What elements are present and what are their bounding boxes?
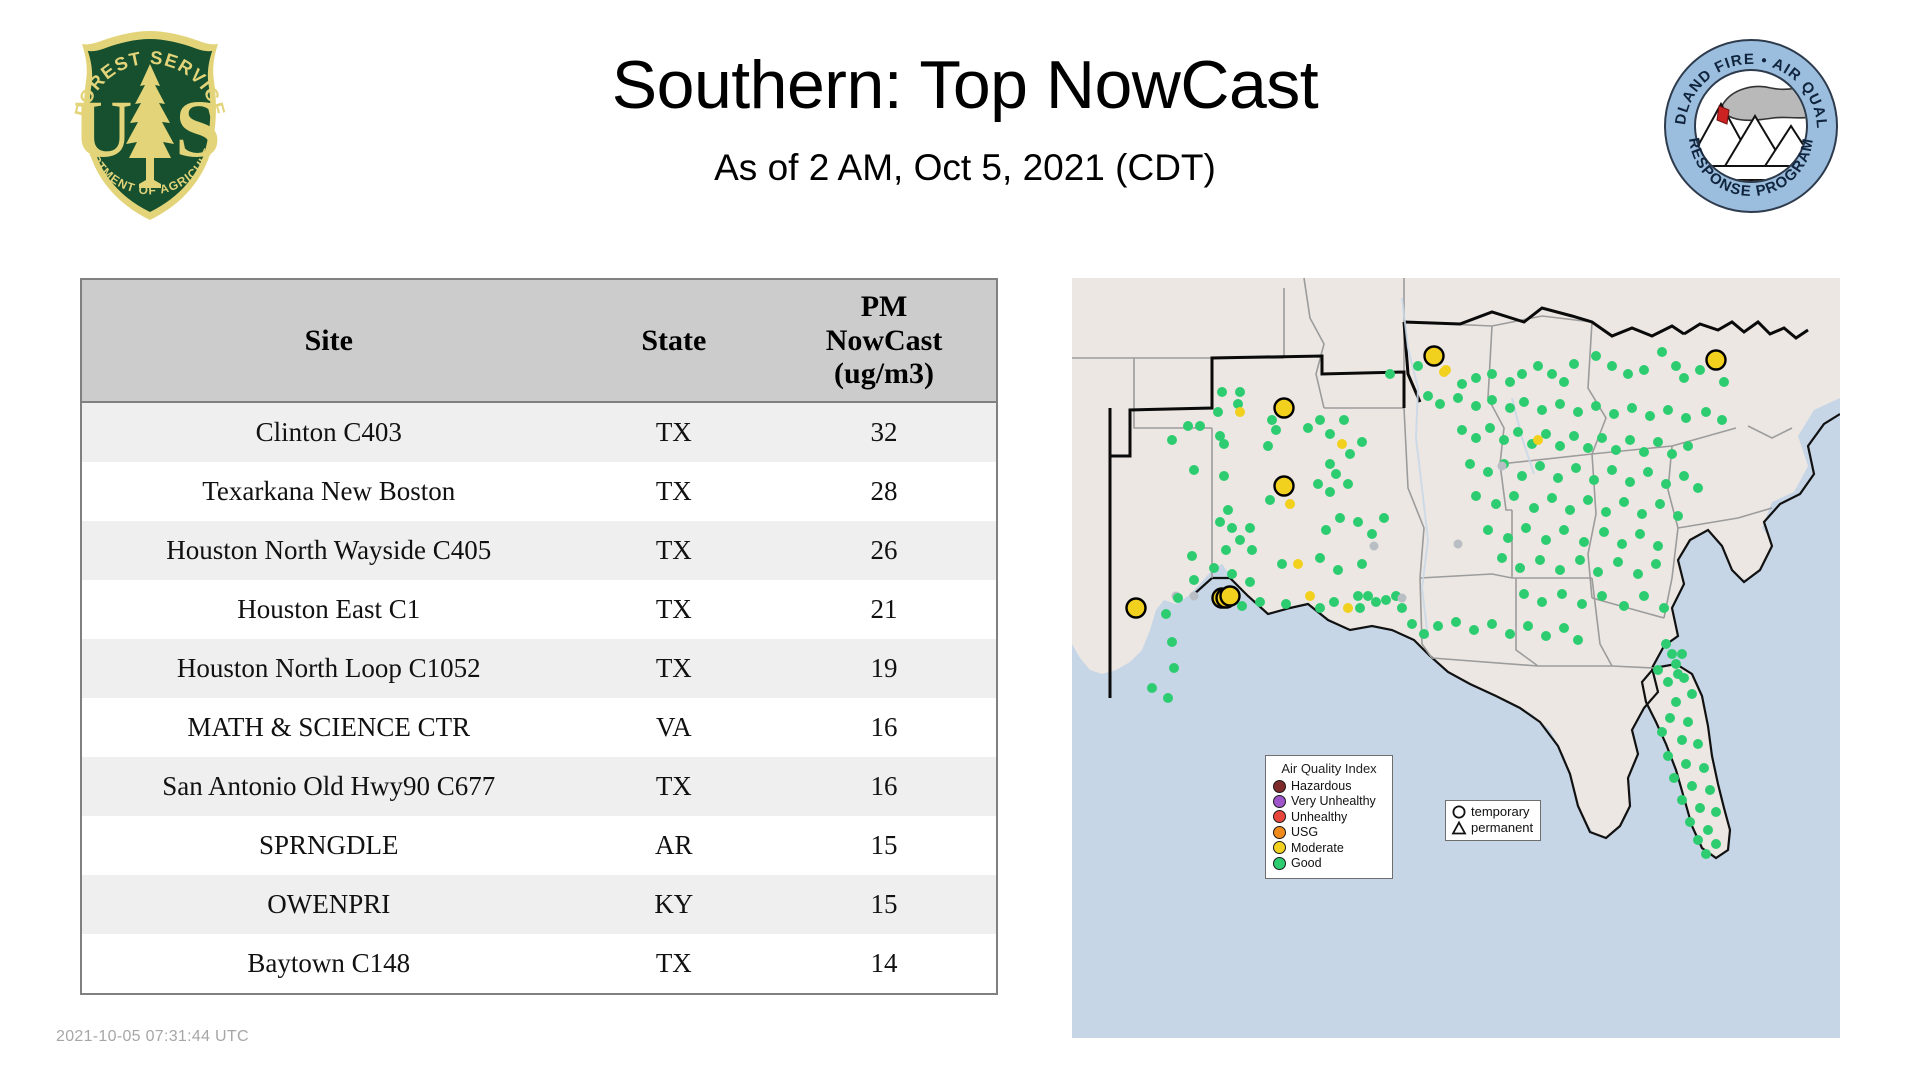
slide-root: U S FOREST SERVICE DEPARTMENT OF AGRICUL… xyxy=(0,0,1920,1080)
monitor-dot-good[interactable] xyxy=(1695,803,1705,813)
aqi-swatch-icon xyxy=(1273,810,1286,823)
monitor-dot-good[interactable] xyxy=(1671,361,1681,371)
cell-site: Houston North Loop C1052 xyxy=(82,639,576,698)
monitor-dot-nodata[interactable] xyxy=(1498,462,1507,471)
monitor-dot-good[interactable] xyxy=(1189,575,1199,585)
monitor-dot-good[interactable] xyxy=(1583,495,1593,505)
monitor-dot-good[interactable] xyxy=(1695,365,1705,375)
site-type-label-temporary: temporary xyxy=(1471,805,1530,820)
monitor-dot-good[interactable] xyxy=(1513,427,1523,437)
monitor-dot-good[interactable] xyxy=(1371,597,1381,607)
monitor-dot-good[interactable] xyxy=(1529,503,1539,513)
monitor-dot-good[interactable] xyxy=(1363,591,1373,601)
monitor-dot-good[interactable] xyxy=(1213,407,1223,417)
monitor-dot-good[interactable] xyxy=(1537,405,1547,415)
monitor-dot-good[interactable] xyxy=(1547,493,1557,503)
monitor-dot-good[interactable] xyxy=(1693,739,1703,749)
aqi-swatch-icon xyxy=(1273,826,1286,839)
pm-header-line1: PM xyxy=(776,290,992,324)
monitor-dot-good[interactable] xyxy=(1321,525,1331,535)
monitor-dot-nodata[interactable] xyxy=(1190,592,1199,601)
monitor-dot-good[interactable] xyxy=(1655,499,1665,509)
monitor-dot-good[interactable] xyxy=(1703,825,1713,835)
title-block: Southern: Top NowCast As of 2 AM, Oct 5,… xyxy=(300,50,1630,189)
monitor-dot-good[interactable] xyxy=(1535,555,1545,565)
cell-state: AR xyxy=(576,816,773,875)
monitor-dot-good[interactable] xyxy=(1569,359,1579,369)
monitor-dot-good[interactable] xyxy=(1619,601,1629,611)
monitor-dot-good[interactable] xyxy=(1487,619,1497,629)
monitor-dot-good[interactable] xyxy=(1227,523,1237,533)
monitor-dot-good[interactable] xyxy=(1671,659,1681,669)
table-row: SPRNGDLEAR15 xyxy=(82,816,996,875)
monitor-dot-nodata[interactable] xyxy=(1398,594,1407,603)
cell-pm: 28 xyxy=(772,462,996,521)
monitor-dot-good[interactable] xyxy=(1183,421,1193,431)
monitor-dot-good[interactable] xyxy=(1457,425,1467,435)
monitor-dot-good[interactable] xyxy=(1503,533,1513,543)
monitor-dot-good[interactable] xyxy=(1247,545,1257,555)
monitor-dot-good[interactable] xyxy=(1635,529,1645,539)
monitor-dot-good[interactable] xyxy=(1453,393,1463,403)
cell-pm: 19 xyxy=(772,639,996,698)
monitor-dot-good[interactable] xyxy=(1541,535,1551,545)
monitor-dot-good[interactable] xyxy=(1609,409,1619,419)
cell-state: VA xyxy=(576,698,773,757)
monitor-dot-good[interactable] xyxy=(1569,431,1579,441)
cell-pm: 15 xyxy=(772,875,996,934)
monitor-dot-good[interactable] xyxy=(1521,523,1531,533)
monitor-dot-good[interactable] xyxy=(1517,471,1527,481)
monitor-dot-good[interactable] xyxy=(1357,559,1367,569)
aqi-legend-label: Good xyxy=(1291,856,1322,870)
monitor-dot-good[interactable] xyxy=(1559,623,1569,633)
monitor-dot-moderate[interactable] xyxy=(1343,603,1353,613)
monitor-dot-good[interactable] xyxy=(1651,559,1661,569)
monitor-dot-good[interactable] xyxy=(1147,683,1157,693)
monitor-dot-good[interactable] xyxy=(1163,693,1173,703)
monitor-dot-moderate-highlight[interactable] xyxy=(1707,351,1726,370)
monitor-dot-good[interactable] xyxy=(1457,379,1467,389)
aqi-swatch-icon xyxy=(1273,780,1286,793)
monitor-dot-good[interactable] xyxy=(1661,639,1671,649)
monitor-dot-good[interactable] xyxy=(1173,593,1183,603)
monitor-dot-good[interactable] xyxy=(1667,649,1677,659)
table-row: Texarkana New BostonTX28 xyxy=(82,462,996,521)
circle-icon xyxy=(1451,804,1467,820)
monitor-dot-good[interactable] xyxy=(1339,415,1349,425)
monitor-dot-good[interactable] xyxy=(1263,441,1273,451)
monitor-dot-good[interactable] xyxy=(1671,697,1681,707)
monitor-dot-good[interactable] xyxy=(1711,807,1721,817)
monitor-dot-good[interactable] xyxy=(1639,591,1649,601)
monitor-dot-good[interactable] xyxy=(1245,523,1255,533)
monitor-dot-good[interactable] xyxy=(1235,535,1245,545)
monitor-dot-good[interactable] xyxy=(1435,399,1445,409)
monitor-dot-good[interactable] xyxy=(1683,441,1693,451)
cell-state: TX xyxy=(576,402,773,462)
monitor-dot-good[interactable] xyxy=(1625,477,1635,487)
monitor-dot-good[interactable] xyxy=(1237,601,1247,611)
monitor-dot-good[interactable] xyxy=(1591,401,1601,411)
cell-pm: 15 xyxy=(772,816,996,875)
monitor-dot-good[interactable] xyxy=(1217,387,1227,397)
monitor-dot-good[interactable] xyxy=(1659,603,1669,613)
monitor-dot-good[interactable] xyxy=(1235,387,1245,397)
monitor-dot-good[interactable] xyxy=(1325,487,1335,497)
monitor-dot-good[interactable] xyxy=(1487,395,1497,405)
cell-state: TX xyxy=(576,639,773,698)
monitor-dot-good[interactable] xyxy=(1195,421,1205,431)
monitor-dot-good[interactable] xyxy=(1555,565,1565,575)
monitor-dot-good[interactable] xyxy=(1281,599,1291,609)
table-header-row: Site State PM NowCast (ug/m3) xyxy=(82,280,996,402)
pm-header-line3: (ug/m3) xyxy=(776,357,992,391)
aqi-legend-item-unhealthy: Unhealthy xyxy=(1273,810,1385,824)
monitor-dot-good[interactable] xyxy=(1657,347,1667,357)
cell-pm: 32 xyxy=(772,402,996,462)
monitor-dot-good[interactable] xyxy=(1619,497,1629,507)
monitor-dot-good[interactable] xyxy=(1679,373,1689,383)
monitor-dot-good[interactable] xyxy=(1187,551,1197,561)
monitor-dot-good[interactable] xyxy=(1167,637,1177,647)
monitor-dot-good[interactable] xyxy=(1705,785,1715,795)
monitor-dot-good[interactable] xyxy=(1677,735,1687,745)
monitor-dot-good[interactable] xyxy=(1433,621,1443,631)
monitor-dot-good[interactable] xyxy=(1255,597,1265,607)
monitor-dot-good[interactable] xyxy=(1633,569,1643,579)
monitor-dot-good[interactable] xyxy=(1509,491,1519,501)
monitor-dot-good[interactable] xyxy=(1533,361,1543,371)
site-type-label-permanent: permanent xyxy=(1471,821,1533,836)
monitor-dot-good[interactable] xyxy=(1557,589,1567,599)
cell-pm: 16 xyxy=(772,757,996,816)
aqi-legend: Air Quality Index HazardousVery Unhealth… xyxy=(1265,755,1393,879)
monitor-dot-good[interactable] xyxy=(1611,445,1621,455)
cell-state: TX xyxy=(576,521,773,580)
cell-pm: 21 xyxy=(772,580,996,639)
monitor-dot-good[interactable] xyxy=(1701,849,1711,859)
aqi-swatch-icon xyxy=(1273,841,1286,854)
monitor-dot-good[interactable] xyxy=(1335,513,1345,523)
monitor-dot-good[interactable] xyxy=(1687,689,1697,699)
monitor-dot-good[interactable] xyxy=(1523,621,1533,631)
monitor-dot-good[interactable] xyxy=(1423,391,1433,401)
monitor-dot-good[interactable] xyxy=(1637,509,1647,519)
monitor-dot-good[interactable] xyxy=(1681,759,1691,769)
monitor-dot-good[interactable] xyxy=(1693,483,1703,493)
monitor-dot-good[interactable] xyxy=(1597,433,1607,443)
monitor-dot-good[interactable] xyxy=(1693,835,1703,845)
monitor-dot-good[interactable] xyxy=(1471,401,1481,411)
cell-site: MATH & SCIENCE CTR xyxy=(82,698,576,757)
monitor-dot-good[interactable] xyxy=(1505,377,1515,387)
monitor-dot-good[interactable] xyxy=(1385,369,1395,379)
monitor-dot-good[interactable] xyxy=(1683,717,1693,727)
nowcast-table-container: Site State PM NowCast (ug/m3) Clinton C4… xyxy=(80,278,998,995)
monitor-dot-good[interactable] xyxy=(1645,411,1655,421)
aqi-legend-item-very-unhealthy: Very Unhealthy xyxy=(1273,794,1385,808)
monitor-dot-good[interactable] xyxy=(1573,635,1583,645)
monitor-dot-good[interactable] xyxy=(1505,629,1515,639)
monitor-dot-good[interactable] xyxy=(1517,369,1527,379)
monitor-dot-moderate[interactable] xyxy=(1293,559,1303,569)
monitor-dot-good[interactable] xyxy=(1267,415,1277,425)
monitor-dot-good[interactable] xyxy=(1711,839,1721,849)
monitor-dot-good[interactable] xyxy=(1465,459,1475,469)
monitor-dot-good[interactable] xyxy=(1617,539,1627,549)
monitor-dot-good[interactable] xyxy=(1209,563,1219,573)
monitor-dot-good[interactable] xyxy=(1673,511,1683,521)
table-row: Houston North Wayside C405TX26 xyxy=(82,521,996,580)
monitor-dot-good[interactable] xyxy=(1699,763,1709,773)
monitor-dot-good[interactable] xyxy=(1357,437,1367,447)
monitor-dot-good[interactable] xyxy=(1315,415,1325,425)
monitor-dot-good[interactable] xyxy=(1329,597,1339,607)
monitor-dot-moderate[interactable] xyxy=(1441,365,1451,375)
monitor-dot-good[interactable] xyxy=(1579,537,1589,547)
monitor-dot-good[interactable] xyxy=(1653,437,1663,447)
monitor-dot-good[interactable] xyxy=(1325,459,1335,469)
monitor-dot-good[interactable] xyxy=(1575,555,1585,565)
monitor-dot-good[interactable] xyxy=(1167,435,1177,445)
monitor-dot-good[interactable] xyxy=(1535,461,1545,471)
aqi-legend-label: Unhealthy xyxy=(1291,810,1347,824)
monitor-dot-good[interactable] xyxy=(1565,505,1575,515)
cell-site: San Antonio Old Hwy90 C677 xyxy=(82,757,576,816)
monitor-dot-good[interactable] xyxy=(1367,529,1377,539)
monitor-dot-good[interactable] xyxy=(1559,525,1569,535)
cell-site: Houston North Wayside C405 xyxy=(82,521,576,580)
monitor-dot-good[interactable] xyxy=(1663,405,1673,415)
monitor-dot-good[interactable] xyxy=(1547,369,1557,379)
monitor-dot-good[interactable] xyxy=(1627,403,1637,413)
monitor-dot-good[interactable] xyxy=(1485,423,1495,433)
monitor-dot-good[interactable] xyxy=(1471,373,1481,383)
monitor-dot-good[interactable] xyxy=(1219,471,1229,481)
monitor-dot-good[interactable] xyxy=(1315,603,1325,613)
monitor-dot-good[interactable] xyxy=(1313,479,1323,489)
monitor-dot-good[interactable] xyxy=(1685,817,1695,827)
monitor-dot-good[interactable] xyxy=(1277,559,1287,569)
monitor-dot-good[interactable] xyxy=(1701,407,1711,417)
monitor-map[interactable] xyxy=(1072,278,1840,1038)
monitor-dot-good[interactable] xyxy=(1541,429,1551,439)
monitor-dot-good[interactable] xyxy=(1679,673,1689,683)
aqi-swatch-icon xyxy=(1273,857,1286,870)
table-row: MATH & SCIENCE CTRVA16 xyxy=(82,698,996,757)
usfs-logo: U S FOREST SERVICE DEPARTMENT OF AGRICUL… xyxy=(55,28,245,223)
monitor-dot-good[interactable] xyxy=(1353,517,1363,527)
aqi-legend-rows: HazardousVery UnhealthyUnhealthyUSGModer… xyxy=(1273,779,1385,870)
monitor-dot-good[interactable] xyxy=(1661,479,1671,489)
aqi-swatch-icon xyxy=(1273,795,1286,808)
monitor-dot-good[interactable] xyxy=(1353,591,1363,601)
monitor-dot-good[interactable] xyxy=(1687,781,1697,791)
monitor-dot-good[interactable] xyxy=(1169,663,1179,673)
monitor-dot-good[interactable] xyxy=(1599,527,1609,537)
cell-state: KY xyxy=(576,875,773,934)
monitor-dot-good[interactable] xyxy=(1245,577,1255,587)
monitor-dot-good[interactable] xyxy=(1717,415,1727,425)
monitor-dot-good[interactable] xyxy=(1653,665,1663,675)
table-body: Clinton C403TX32Texarkana New BostonTX28… xyxy=(82,402,996,993)
monitor-dot-nodata[interactable] xyxy=(1370,542,1379,551)
monitor-dot-good[interactable] xyxy=(1519,589,1529,599)
table-header: Site State PM NowCast (ug/m3) xyxy=(82,280,996,402)
aqi-legend-item-usg: USG xyxy=(1273,825,1385,839)
cell-pm: 16 xyxy=(772,698,996,757)
monitor-dot-moderate[interactable] xyxy=(1305,591,1315,601)
monitor-dot-good[interactable] xyxy=(1589,475,1599,485)
monitor-dot-good[interactable] xyxy=(1613,557,1623,567)
monitor-dot-good[interactable] xyxy=(1499,435,1509,445)
monitor-dot-good[interactable] xyxy=(1577,599,1587,609)
monitor-dot-moderate[interactable] xyxy=(1235,407,1245,417)
monitor-dot-good[interactable] xyxy=(1227,569,1237,579)
monitor-dot-good[interactable] xyxy=(1555,399,1565,409)
cell-pm: 14 xyxy=(772,934,996,993)
monitor-dot-moderate-highlight[interactable] xyxy=(1275,399,1294,418)
monitor-dot-good[interactable] xyxy=(1573,407,1583,417)
monitor-dot-good[interactable] xyxy=(1219,439,1229,449)
monitor-dot-good[interactable] xyxy=(1669,773,1679,783)
monitor-dot-good[interactable] xyxy=(1657,727,1667,737)
monitor-dot-nodata[interactable] xyxy=(1454,540,1463,549)
column-header-pm-nowcast: PM NowCast (ug/m3) xyxy=(772,280,996,402)
table-row: Houston East C1TX21 xyxy=(82,580,996,639)
monitor-dot-good[interactable] xyxy=(1643,467,1653,477)
monitor-dot-good[interactable] xyxy=(1519,397,1529,407)
monitor-dot-good[interactable] xyxy=(1607,361,1617,371)
monitor-dot-good[interactable] xyxy=(1665,713,1675,723)
monitor-dot-good[interactable] xyxy=(1591,351,1601,361)
monitor-dot-good[interactable] xyxy=(1555,441,1565,451)
monitor-dot-good[interactable] xyxy=(1483,467,1493,477)
monitor-dot-good[interactable] xyxy=(1419,629,1429,639)
monitor-dot-good[interactable] xyxy=(1471,433,1481,443)
monitor-dot-good[interactable] xyxy=(1355,603,1365,613)
monitor-dot-good[interactable] xyxy=(1679,471,1689,481)
monitor-dot-good[interactable] xyxy=(1469,625,1479,635)
monitor-dot-good[interactable] xyxy=(1653,541,1663,551)
cell-site: Texarkana New Boston xyxy=(82,462,576,521)
monitor-dot-moderate[interactable] xyxy=(1337,439,1347,449)
monitor-dot-good[interactable] xyxy=(1487,369,1497,379)
monitor-dot-good[interactable] xyxy=(1505,403,1515,413)
monitor-dot-good[interactable] xyxy=(1497,553,1507,563)
monitor-dot-good[interactable] xyxy=(1303,423,1313,433)
monitor-dot-moderate-highlight[interactable] xyxy=(1425,347,1444,366)
generated-timestamp: 2021-10-05 07:31:44 UTC xyxy=(56,1028,249,1046)
monitor-dot-good[interactable] xyxy=(1223,505,1233,515)
map-canvas[interactable] xyxy=(1072,278,1840,1038)
page-subtitle: As of 2 AM, Oct 5, 2021 (CDT) xyxy=(300,147,1630,189)
aqi-legend-label: USG xyxy=(1291,825,1318,839)
monitor-dot-good[interactable] xyxy=(1639,365,1649,375)
cell-site: SPRNGDLE xyxy=(82,816,576,875)
monitor-dot-good[interactable] xyxy=(1553,473,1563,483)
triangle-icon xyxy=(1451,820,1467,836)
monitor-dot-good[interactable] xyxy=(1333,565,1343,575)
monitor-dot-good[interactable] xyxy=(1559,377,1569,387)
monitor-dot-good[interactable] xyxy=(1663,751,1673,761)
cell-state: TX xyxy=(576,757,773,816)
table-row: Houston North Loop C1052TX19 xyxy=(82,639,996,698)
cell-state: TX xyxy=(576,580,773,639)
wfaqrp-logo: WILDLAND FIRE • AIR QUALITY RESPONSE PRO… xyxy=(1663,38,1839,214)
monitor-dot-good[interactable] xyxy=(1161,609,1171,619)
monitor-dot-good[interactable] xyxy=(1677,795,1687,805)
monitor-dot-good[interactable] xyxy=(1541,631,1551,641)
monitor-dot-good[interactable] xyxy=(1601,507,1611,517)
monitor-dot-good[interactable] xyxy=(1265,495,1275,505)
aqi-legend-item-good: Good xyxy=(1273,856,1385,870)
monitor-dot-good[interactable] xyxy=(1583,443,1593,453)
monitor-dot-good[interactable] xyxy=(1597,591,1607,601)
monitor-dot-good[interactable] xyxy=(1663,677,1673,687)
table-row: Clinton C403TX32 xyxy=(82,402,996,462)
monitor-dot-good[interactable] xyxy=(1471,491,1481,501)
monitor-dot-good[interactable] xyxy=(1681,413,1691,423)
monitor-dot-good[interactable] xyxy=(1189,465,1199,475)
monitor-dot-good[interactable] xyxy=(1215,517,1225,527)
monitor-dot-good[interactable] xyxy=(1331,469,1341,479)
monitor-dot-good[interactable] xyxy=(1537,597,1547,607)
site-type-legend: temporary permanent xyxy=(1445,800,1541,841)
monitor-dot-good[interactable] xyxy=(1571,463,1581,473)
aqi-legend-label: Hazardous xyxy=(1291,779,1351,793)
table-row: San Antonio Old Hwy90 C677TX16 xyxy=(82,757,996,816)
monitor-dot-good[interactable] xyxy=(1625,435,1635,445)
monitor-dot-good[interactable] xyxy=(1271,425,1281,435)
monitor-dot-good[interactable] xyxy=(1397,603,1407,613)
monitor-dot-good[interactable] xyxy=(1667,449,1677,459)
monitor-dot-good[interactable] xyxy=(1593,567,1603,577)
aqi-legend-item-moderate: Moderate xyxy=(1273,841,1385,855)
monitor-dot-good[interactable] xyxy=(1483,525,1493,535)
monitor-dot-good[interactable] xyxy=(1515,563,1525,573)
monitor-dot-moderate-highlight[interactable] xyxy=(1221,587,1240,606)
monitor-dot-good[interactable] xyxy=(1345,449,1355,459)
monitor-dot-good[interactable] xyxy=(1379,513,1389,523)
monitor-dot-good[interactable] xyxy=(1221,545,1231,555)
monitor-dot-good[interactable] xyxy=(1325,429,1335,439)
monitor-dot-good[interactable] xyxy=(1607,465,1617,475)
aqi-legend-title: Air Quality Index xyxy=(1273,761,1385,776)
monitor-dot-moderate[interactable] xyxy=(1285,499,1295,509)
monitor-dot-moderate-highlight[interactable] xyxy=(1275,477,1294,496)
monitor-dot-moderate-highlight[interactable] xyxy=(1127,599,1146,618)
monitor-dot-good[interactable] xyxy=(1315,553,1325,563)
monitor-dot-good[interactable] xyxy=(1623,369,1633,379)
monitor-dot-moderate[interactable] xyxy=(1533,435,1543,445)
aqi-legend-item-hazardous: Hazardous xyxy=(1273,779,1385,793)
monitor-dot-good[interactable] xyxy=(1639,447,1649,457)
monitor-dot-good[interactable] xyxy=(1343,479,1353,489)
column-header-state: State xyxy=(576,280,773,402)
monitor-dot-good[interactable] xyxy=(1491,499,1501,509)
monitor-dot-good[interactable] xyxy=(1677,649,1687,659)
monitor-dot-good[interactable] xyxy=(1381,595,1391,605)
monitor-dot-good[interactable] xyxy=(1407,619,1417,629)
monitor-dot-good[interactable] xyxy=(1719,377,1729,387)
cell-state: TX xyxy=(576,462,773,521)
monitor-dot-good[interactable] xyxy=(1451,617,1461,627)
cell-pm: 26 xyxy=(772,521,996,580)
table-row: Baytown C148TX14 xyxy=(82,934,996,993)
monitor-dot-good[interactable] xyxy=(1413,361,1423,371)
